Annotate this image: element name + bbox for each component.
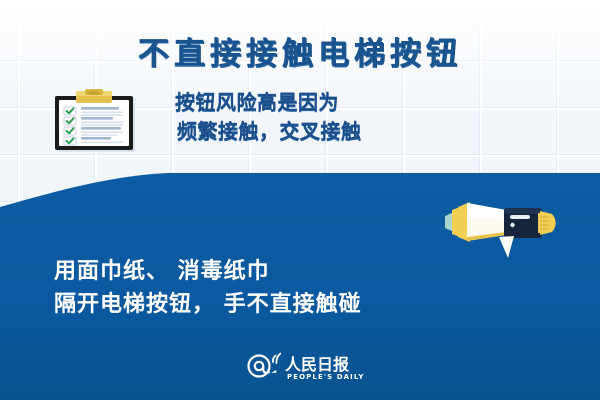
body-copy-line-1: 用面巾纸、 消毒纸巾 bbox=[54, 255, 574, 288]
subtitle-line-1: 按钮风险高是因为 bbox=[175, 88, 575, 117]
clipboard-checklist-icon bbox=[54, 89, 138, 153]
body-copy-block: 用面巾纸、 消毒纸巾 隔开电梯按钮， 手不直接触碰 bbox=[54, 255, 574, 321]
page-title: 不直接接触电梯按钮 bbox=[0, 28, 600, 73]
logo-name-en: PEOPLE'S DAILY bbox=[287, 373, 365, 381]
subtitle-block: 按钮风险高是因为 频繁接触，交叉接触 bbox=[175, 88, 575, 146]
poster-root: 不直接接触电梯按钮 bbox=[0, 0, 600, 400]
peoples-daily-logo: 人民日报 PEOPLE'S DAILY bbox=[245, 352, 365, 382]
megaphone-icon bbox=[440, 188, 560, 260]
subtitle-line-2: 频繁接触，交叉接触 bbox=[175, 117, 575, 146]
body-copy-line-2: 隔开电梯按钮， 手不直接触碰 bbox=[54, 288, 574, 321]
logo-name-cn: 人民日报 bbox=[285, 355, 349, 374]
